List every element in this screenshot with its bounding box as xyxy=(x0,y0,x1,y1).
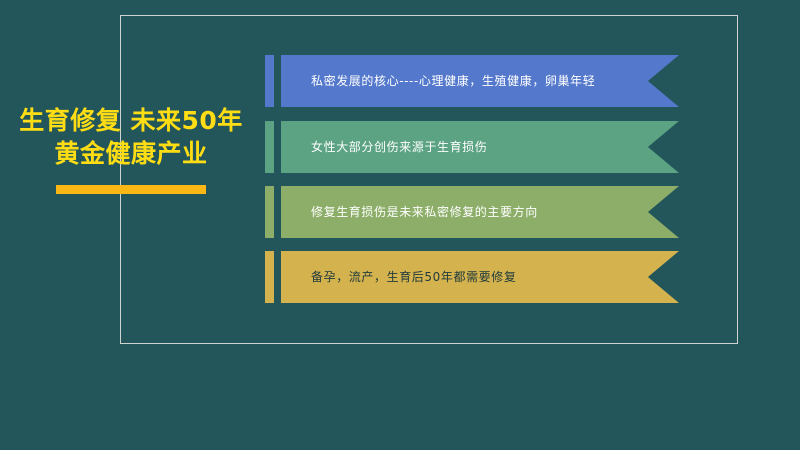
banner-item[interactable]: 私密发展的核心----心理健康，生殖健康，卵巢年轻 xyxy=(265,55,679,107)
title-underline-bar xyxy=(56,185,206,194)
banner-label: 备孕，流产，生育后50年都需要修复 xyxy=(281,270,516,284)
slide-title-block: 生育修复 未来50年黄金健康产业 xyxy=(18,104,244,194)
banner-accent-bar xyxy=(265,55,274,107)
banner-label: 修复生育损伤是未来私密修复的主要方向 xyxy=(281,205,538,219)
banner-ribbon-shape: 修复生育损伤是未来私密修复的主要方向 xyxy=(281,186,679,238)
banner-item[interactable]: 备孕，流产，生育后50年都需要修复 xyxy=(265,251,679,303)
banner-accent-bar xyxy=(265,251,274,303)
banner-item[interactable]: 修复生育损伤是未来私密修复的主要方向 xyxy=(265,186,679,238)
banner-ribbon-shape: 女性大部分创伤来源于生育损伤 xyxy=(281,121,679,173)
banner-list: 私密发展的核心----心理健康，生殖健康，卵巢年轻 女性大部分创伤来源于生育损伤… xyxy=(265,55,695,315)
slide-canvas: 生育修复 未来50年黄金健康产业 私密发展的核心----心理健康，生殖健康，卵巢… xyxy=(0,0,800,450)
banner-ribbon-shape: 私密发展的核心----心理健康，生殖健康，卵巢年轻 xyxy=(281,55,679,107)
banner-ribbon-shape: 备孕，流产，生育后50年都需要修复 xyxy=(281,251,679,303)
banner-accent-bar xyxy=(265,186,274,238)
banner-label: 私密发展的核心----心理健康，生殖健康，卵巢年轻 xyxy=(281,74,595,88)
slide-title: 生育修复 未来50年黄金健康产业 xyxy=(18,104,244,170)
banner-label: 女性大部分创伤来源于生育损伤 xyxy=(281,140,487,154)
banner-accent-bar xyxy=(265,121,274,173)
banner-item[interactable]: 女性大部分创伤来源于生育损伤 xyxy=(265,121,679,173)
